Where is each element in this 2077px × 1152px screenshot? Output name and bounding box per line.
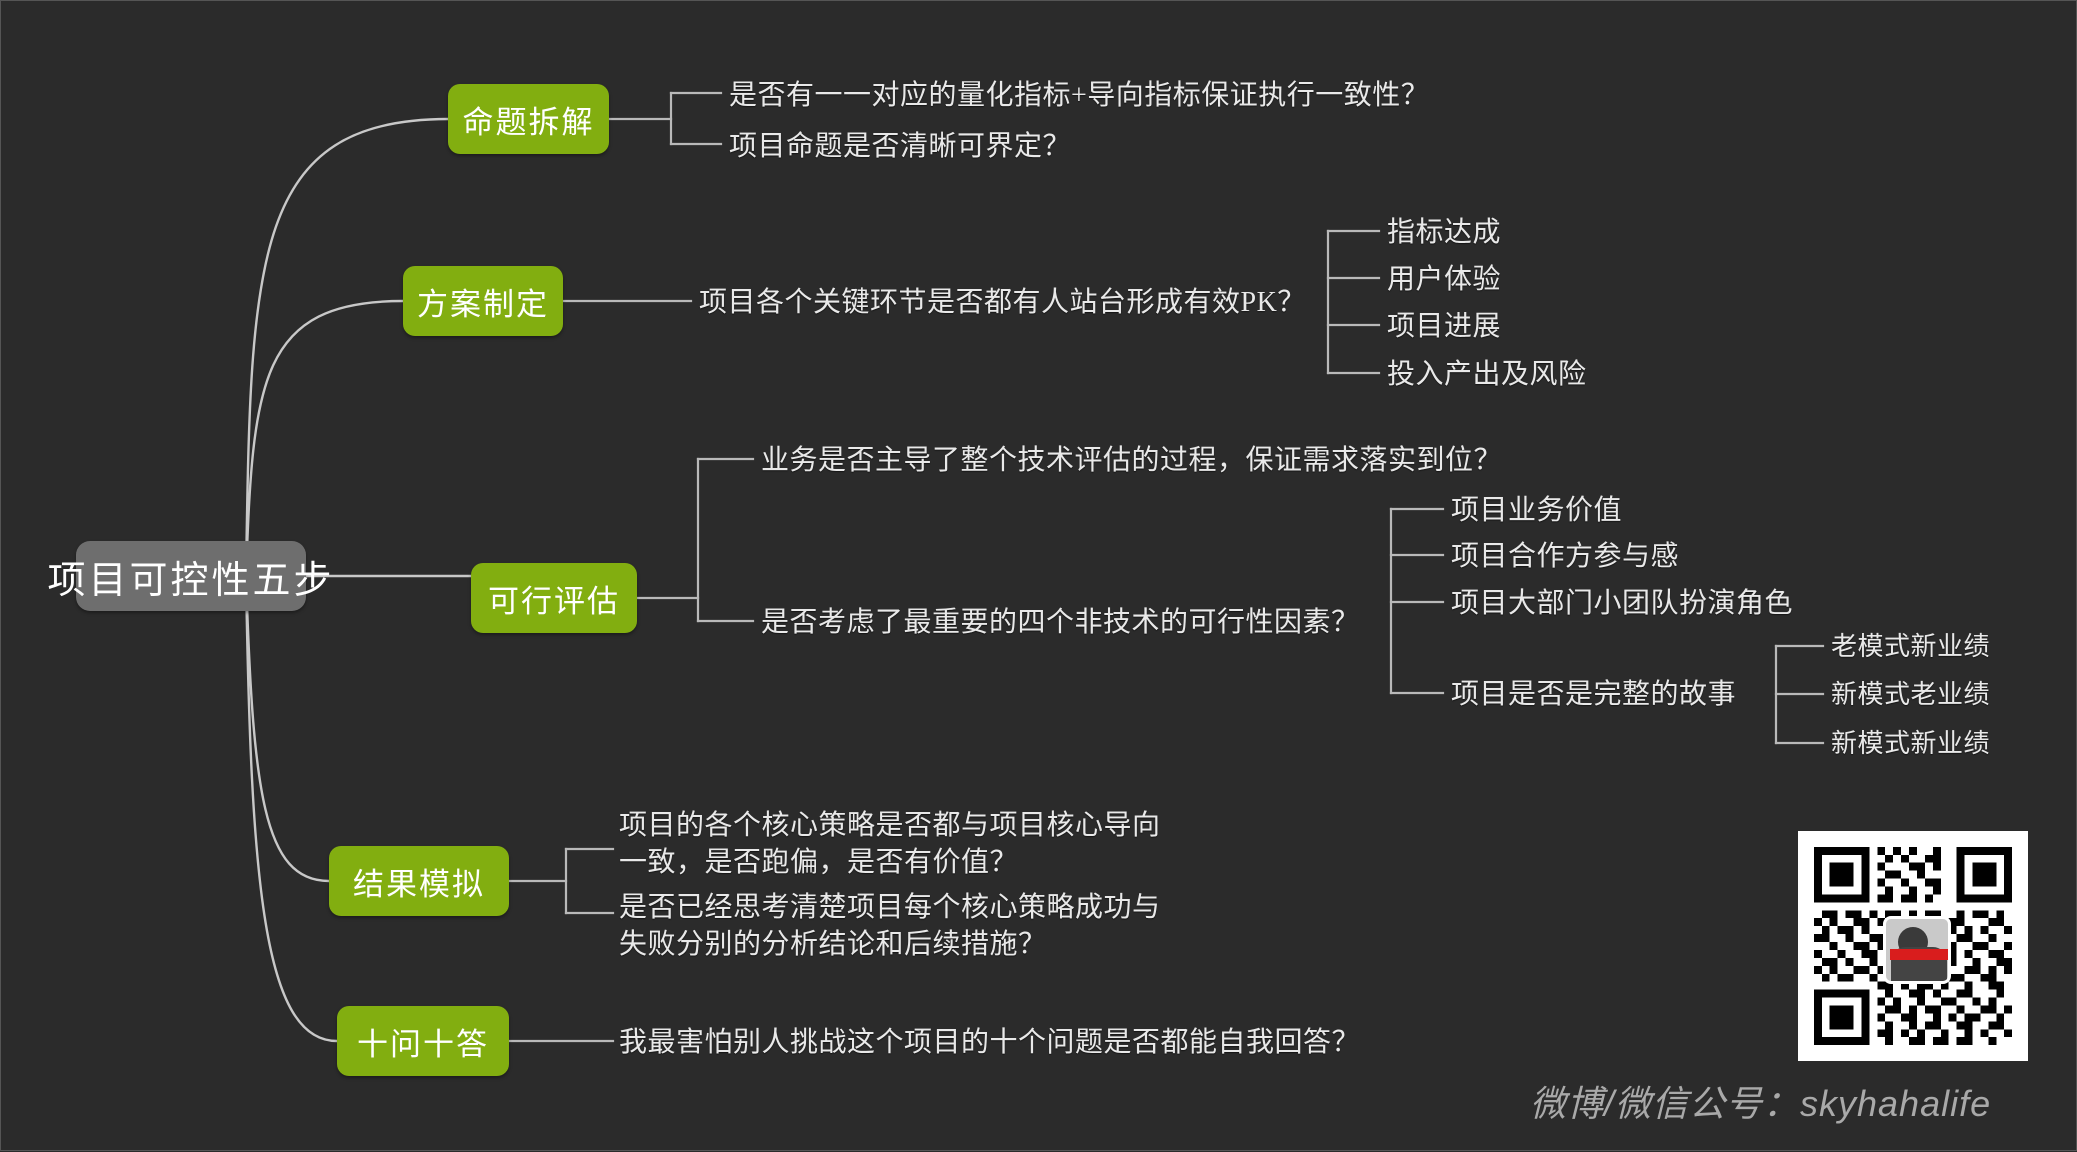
branch-node-方案制定[interactable]: 方案制定 <box>403 266 563 336</box>
link-root-to-b3 <box>246 576 329 881</box>
leaf-node[interactable]: 项目各个关键环节是否都有人站台形成有效PK？ <box>699 284 1306 321</box>
leaf-node[interactable]: 是否已经思考清楚项目每个核心策略成功与 失败分别的分析结论和后续措施？ <box>619 889 1161 963</box>
leaf-node[interactable]: 新模式新业绩 <box>1831 727 1990 762</box>
branch-node-十问十答[interactable]: 十问十答 <box>337 1006 509 1076</box>
avatar-name-tag <box>1890 949 1948 960</box>
leaf-node[interactable]: 项目合作方参与感 <box>1451 538 1679 575</box>
branch-label: 十问十答 <box>357 1019 489 1064</box>
branch-node-可行评估[interactable]: 可行评估 <box>471 563 637 633</box>
link-root-to-b4 <box>246 576 337 1041</box>
branch-label: 结果模拟 <box>353 859 485 904</box>
leaf-node[interactable]: 我最害怕别人挑战这个项目的十个问题是否都能自我回答？ <box>619 1024 1360 1061</box>
wechat-qr-code <box>1798 831 2028 1061</box>
branch-node-结果模拟[interactable]: 结果模拟 <box>329 846 509 916</box>
leaf-node[interactable]: 老模式新业绩 <box>1831 630 1990 665</box>
branch-node-命题拆解[interactable]: 命题拆解 <box>448 84 609 154</box>
leaf-node[interactable]: 项目业务价值 <box>1451 492 1622 529</box>
qr-center-avatar <box>1883 916 1951 984</box>
leaf-node[interactable]: 项目命题是否清晰可界定？ <box>729 128 1071 165</box>
branch-label: 命题拆解 <box>463 97 595 142</box>
leaf-node[interactable]: 是否考虑了最重要的四个非技术的可行性因素？ <box>761 604 1360 641</box>
leaf-node[interactable]: 项目大部门小团队扮演角色 <box>1451 585 1793 622</box>
branch-label: 方案制定 <box>417 279 549 324</box>
link-root-to-b1 <box>246 301 403 576</box>
leaf-node[interactable]: 项目是否是完整的故事 <box>1451 676 1736 713</box>
leaf-node[interactable]: 指标达成 <box>1387 214 1501 251</box>
leaf-node[interactable]: 项目的各个核心策略是否都与项目核心导向 一致，是否跑偏，是否有价值？ <box>619 807 1161 881</box>
watermark-text: 微博/微信公号：skyhahalife <box>1530 1075 1991 1127</box>
leaf-node[interactable]: 新模式老业绩 <box>1831 678 1990 713</box>
root-node-label: 项目可控性五步 <box>48 549 335 604</box>
leaf-node[interactable]: 投入产出及风险 <box>1387 356 1587 393</box>
link-root-to-b0 <box>246 119 448 576</box>
root-node[interactable]: 项目可控性五步 <box>76 541 306 611</box>
mindmap-canvas: 项目可控性五步 命题拆解 方案制定 可行评估 结果模拟 十问十答 是否有一一对应… <box>0 0 2077 1151</box>
branch-label: 可行评估 <box>488 576 620 621</box>
leaf-node[interactable]: 用户体验 <box>1387 261 1501 298</box>
leaf-node[interactable]: 是否有一一对应的量化指标+导向指标保证执行一致性？ <box>729 77 1429 114</box>
leaf-node[interactable]: 业务是否主导了整个技术评估的过程，保证需求落实到位？ <box>761 442 1502 479</box>
leaf-node[interactable]: 项目进展 <box>1387 308 1501 345</box>
